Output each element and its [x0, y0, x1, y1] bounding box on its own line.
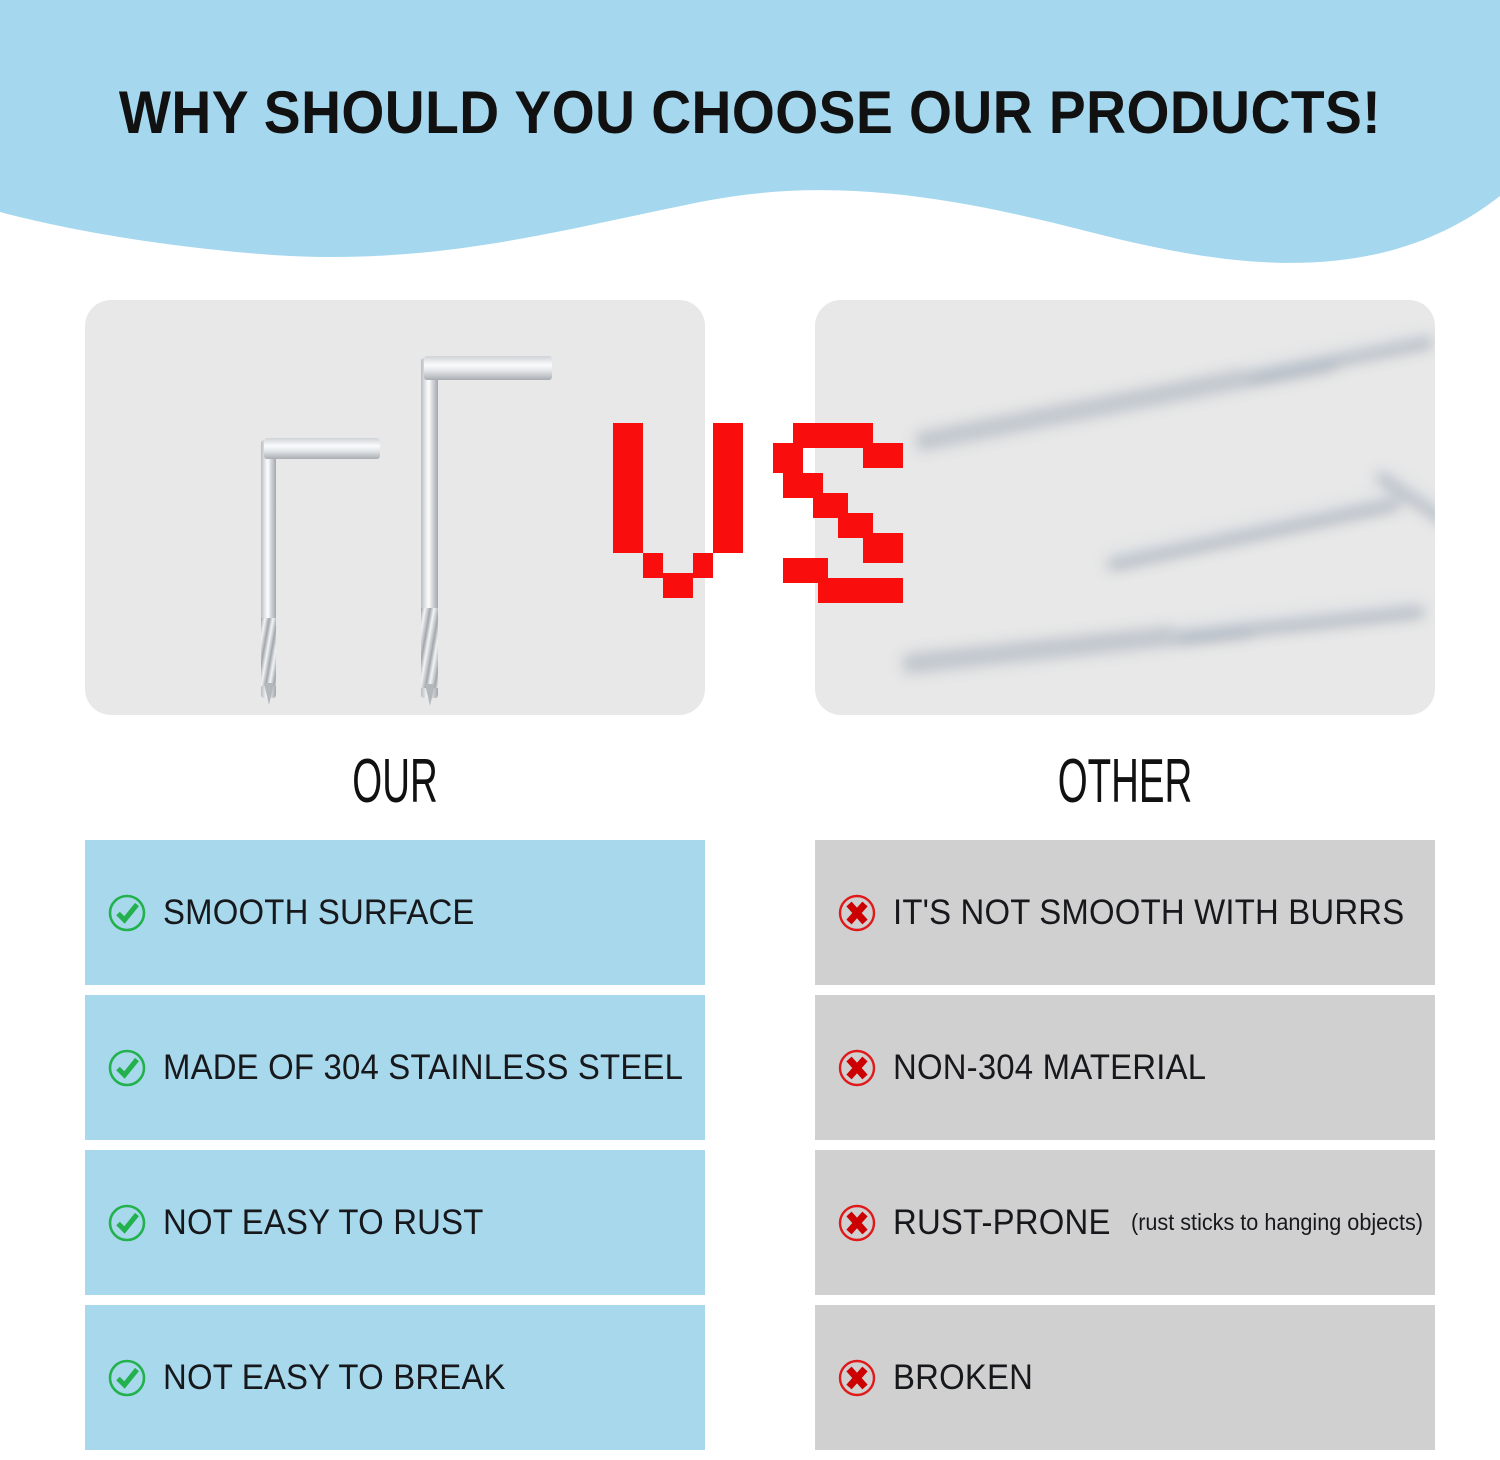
screw-hook-short-image	[261, 440, 276, 698]
header-banner: WHY SHOULD YOU CHOOSE OUR PRODUCTS!	[0, 0, 1500, 270]
feature-label: NOT EASY TO BREAK	[163, 1358, 506, 1398]
feature-row: IT'S NOT SMOOTH WITH BURRS	[815, 840, 1435, 985]
x-circle-icon	[837, 893, 877, 933]
check-circle-icon	[107, 1203, 147, 1243]
feature-row: NOT EASY TO BREAK	[85, 1305, 705, 1450]
column-heading-our: OUR	[203, 746, 587, 817]
feature-label: NOT EASY TO RUST	[163, 1203, 484, 1243]
feature-row: RUST-PRONE (rust sticks to hanging objec…	[815, 1150, 1435, 1295]
competitor-screw-bottom-shank	[1175, 599, 1425, 642]
feature-row: BROKEN	[815, 1305, 1435, 1450]
hook-threads	[421, 608, 438, 688]
x-circle-icon	[837, 1358, 877, 1398]
vs-label	[608, 418, 908, 608]
check-circle-icon	[107, 1048, 147, 1088]
feature-row: MADE OF 304 STAINLESS STEEL	[85, 995, 705, 1140]
blurred-screws-image	[815, 300, 1435, 715]
feature-label: MADE OF 304 STAINLESS STEEL	[163, 1048, 683, 1088]
hook-tip	[425, 684, 435, 706]
x-circle-icon	[837, 1203, 877, 1243]
feature-label: BROKEN	[893, 1358, 1033, 1398]
competitor-screw-top-shank	[1245, 330, 1435, 382]
screw-hook-tall-image	[421, 358, 438, 698]
feature-row: SMOOTH SURFACE	[85, 840, 705, 985]
feature-row: NOT EASY TO RUST	[85, 1150, 705, 1295]
check-circle-icon	[107, 893, 147, 933]
competitor-screw-middle	[1105, 491, 1402, 570]
hook-arm	[264, 438, 380, 459]
vs-pixel-glyphs	[608, 418, 908, 608]
page-title: WHY SHOULD YOU CHOOSE OUR PRODUCTS!	[60, 78, 1440, 147]
hook-tip	[264, 683, 274, 705]
feature-label: SMOOTH SURFACE	[163, 893, 475, 933]
feature-list-our: SMOOTH SURFACE MADE OF 304 STAINLESS STE…	[85, 840, 705, 1460]
feature-list-other: IT'S NOT SMOOTH WITH BURRS NON-304 MATER…	[815, 840, 1435, 1460]
feature-label: NON-304 MATERIAL	[893, 1048, 1206, 1088]
hook-arm	[424, 356, 552, 380]
check-circle-icon	[107, 1358, 147, 1398]
feature-row: NON-304 MATERIAL	[815, 995, 1435, 1140]
product-photo-other	[815, 300, 1435, 715]
hook-threads	[261, 618, 276, 686]
x-circle-icon	[837, 1048, 877, 1088]
feature-label: IT'S NOT SMOOTH WITH BURRS	[893, 893, 1404, 933]
column-heading-other: OTHER	[933, 746, 1317, 817]
feature-label: RUST-PRONE	[893, 1203, 1111, 1243]
feature-note: (rust sticks to hanging objects)	[1131, 1209, 1423, 1236]
